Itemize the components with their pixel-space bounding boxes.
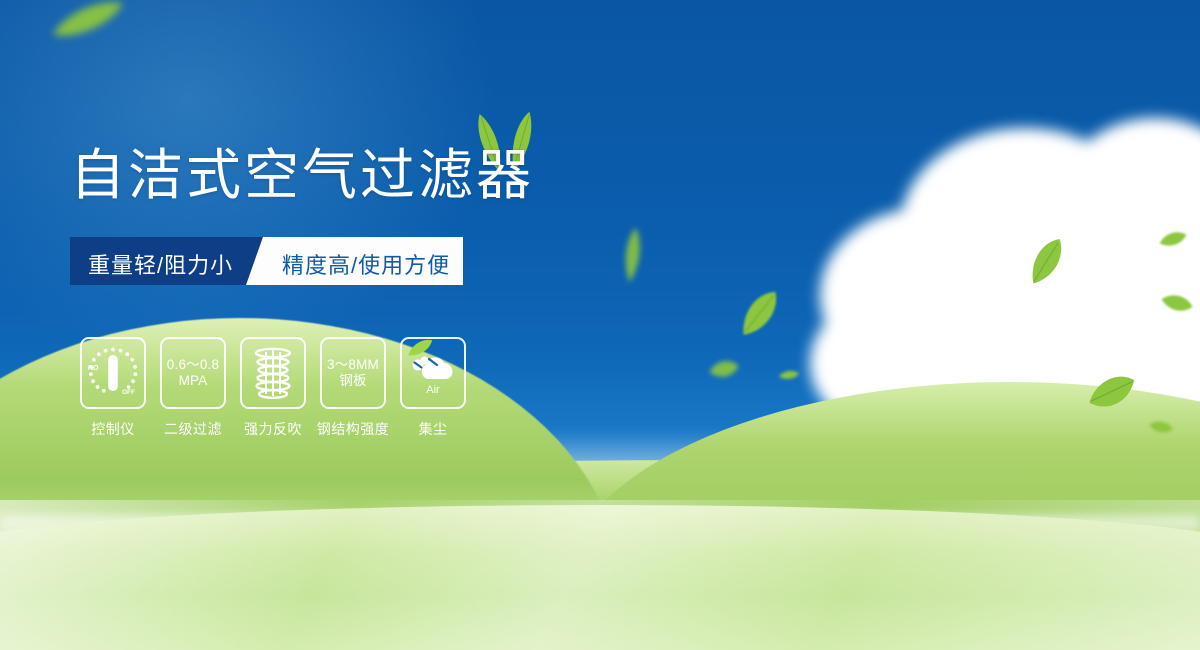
control-dial-icon: NO OFF bbox=[85, 344, 141, 402]
grass-sheen bbox=[0, 500, 1200, 650]
pressure-range: 0.6〜0.8 bbox=[167, 357, 219, 373]
steel-thickness: 3〜8MM bbox=[327, 357, 379, 373]
feature-icon-box: 3〜8MM 钢板 bbox=[320, 337, 386, 409]
feature-label: 二级过滤 bbox=[164, 419, 222, 439]
product-banner: 自洁式空气过滤器 重量轻/阻力小 精度高/使用方便 bbox=[0, 0, 1200, 650]
pressure-text-icon: 0.6〜0.8 MPA bbox=[167, 357, 219, 389]
svg-text:OFF: OFF bbox=[122, 389, 135, 396]
feature-label: 钢结构强度 bbox=[317, 419, 390, 439]
steel-material: 钢板 bbox=[327, 373, 379, 389]
feature-item-two-stage-filter[interactable]: 0.6〜0.8 MPA 二级过滤 bbox=[160, 337, 226, 439]
svg-text:NO: NO bbox=[88, 365, 99, 372]
steel-plate-text-icon: 3〜8MM 钢板 bbox=[327, 357, 379, 389]
subtitle-left-panel: 重量轻/阻力小 bbox=[70, 237, 263, 285]
feature-icon-box: 0.6〜0.8 MPA bbox=[160, 337, 226, 409]
air-label: Air bbox=[426, 384, 440, 396]
feature-item-steel-strength[interactable]: 3〜8MM 钢板 钢结构强度 bbox=[320, 337, 386, 439]
air-cloud-icon: Air bbox=[407, 348, 459, 398]
feature-item-dust-collection[interactable]: Air 集尘 bbox=[400, 337, 466, 439]
filter-cartridge-icon bbox=[248, 345, 298, 401]
subtitle-right-text: 精度高/使用方便 bbox=[282, 248, 450, 280]
feature-icon-box bbox=[240, 337, 306, 409]
feature-label: 强力反吹 bbox=[244, 419, 302, 439]
feature-item-strong-backwash[interactable]: 强力反吹 bbox=[240, 337, 306, 439]
feature-list: NO OFF 控制仪 0.6〜0.8 MPA 二级过滤 bbox=[80, 337, 466, 439]
subtitle-left-text: 重量轻/阻力小 bbox=[88, 248, 233, 280]
feature-icon-box: NO OFF bbox=[80, 337, 146, 409]
subtitle-bar: 重量轻/阻力小 精度高/使用方便 bbox=[70, 237, 463, 285]
pressure-unit: MPA bbox=[167, 373, 219, 389]
page-title: 自洁式空气过滤器 bbox=[70, 147, 534, 205]
feature-icon-box: Air bbox=[400, 337, 466, 409]
feature-item-control-meter[interactable]: NO OFF 控制仪 bbox=[80, 337, 146, 439]
subtitle-right-panel: 精度高/使用方便 bbox=[246, 237, 463, 285]
feature-label: 控制仪 bbox=[91, 419, 135, 439]
feature-label: 集尘 bbox=[419, 419, 448, 439]
